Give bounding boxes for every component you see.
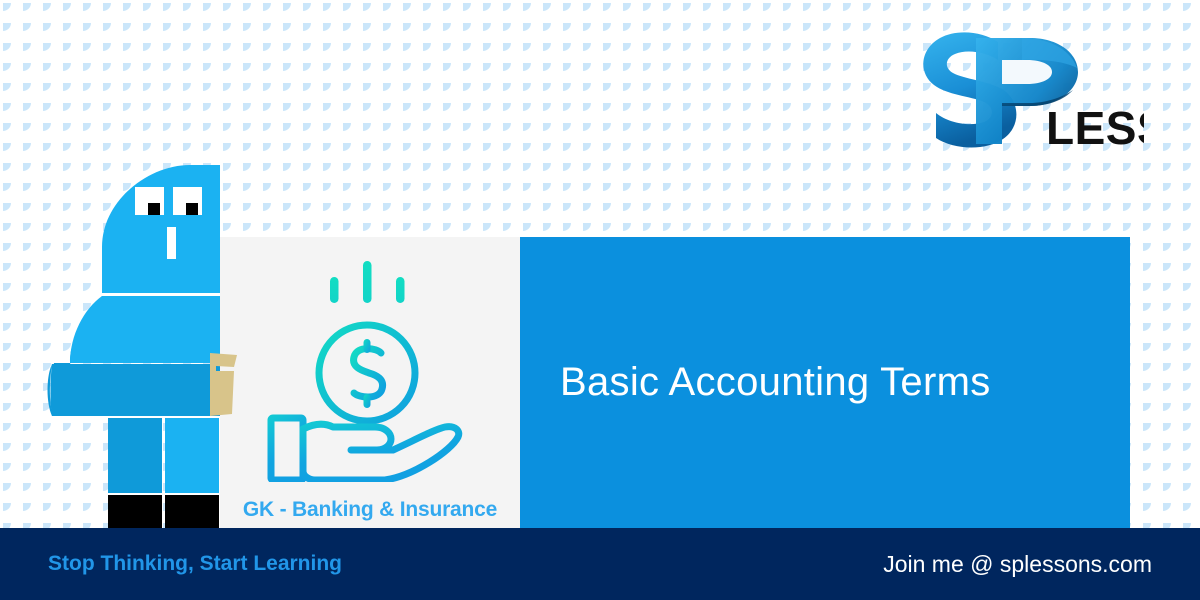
splessons-logo: LESSONS bbox=[912, 26, 1144, 152]
footer-bar: Stop Thinking, Start Learning Join me @ … bbox=[0, 528, 1200, 600]
money-in-hand-icon bbox=[253, 247, 493, 482]
dollar-coin-icon bbox=[319, 325, 415, 421]
footer-website: Join me @ splessons.com bbox=[883, 528, 1152, 600]
mascot-leg-left bbox=[108, 418, 162, 493]
mascot-hand-front bbox=[210, 353, 237, 416]
category-icon-panel: GK - Banking & Insurance bbox=[220, 237, 520, 528]
mascot-leg-right bbox=[165, 418, 219, 493]
title-panel: Basic Accounting Terms bbox=[520, 237, 1130, 528]
motion-lines-icon bbox=[330, 261, 405, 303]
panel-caption: GK - Banking & Insurance bbox=[220, 498, 520, 522]
banner-root: GK - Banking & Insurance Basic Accountin… bbox=[0, 0, 1200, 600]
mascot-character bbox=[40, 165, 240, 535]
page-title: Basic Accounting Terms bbox=[560, 237, 991, 528]
logo-wordmark: LESSONS bbox=[1046, 102, 1144, 152]
mascot-nose bbox=[167, 227, 176, 259]
footer-tagline: Stop Thinking, Start Learning bbox=[48, 528, 342, 600]
open-hand-icon bbox=[271, 418, 459, 480]
